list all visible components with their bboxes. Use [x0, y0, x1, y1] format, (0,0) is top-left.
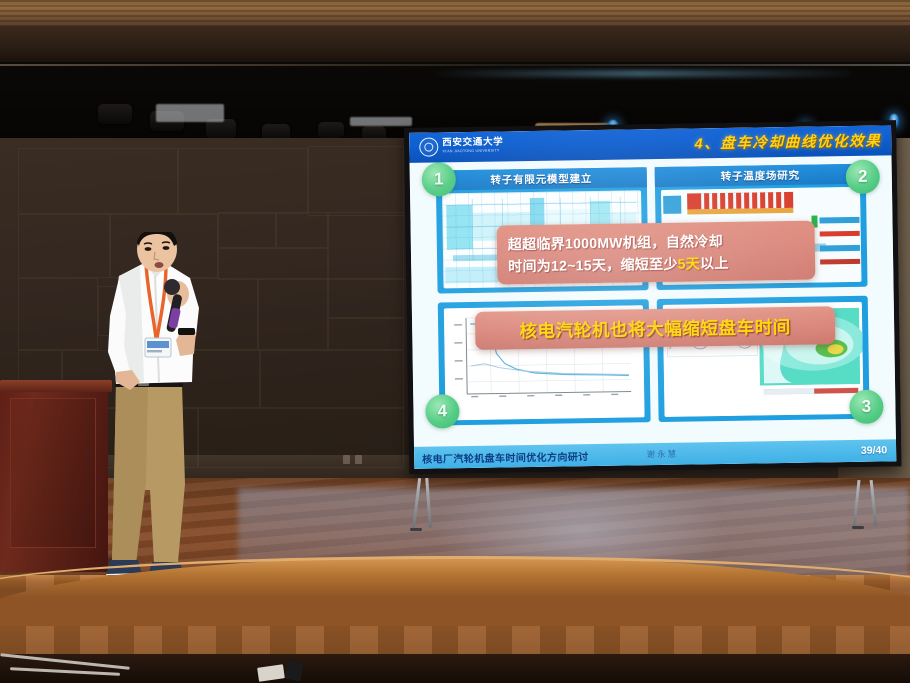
- secondary-callout-text: 核电汽轮机也将大幅缩短盘车时间: [519, 313, 791, 342]
- ceiling-light-strip: [430, 70, 850, 77]
- presenter: [86, 232, 218, 588]
- university-logo: 西安交通大学 XI'AN JIAOTONG UNIVERSITY: [419, 136, 503, 156]
- screen-tripod-foot: [410, 528, 422, 531]
- ceiling-light-glow: [350, 117, 412, 126]
- quadrant-1-header: 转子有限元模型建立: [436, 167, 647, 190]
- quadrant-1-title: 转子有限元模型建立: [490, 171, 592, 188]
- footer-title: 核电厂汽轮机盘车时间优化方向研讨: [422, 448, 589, 466]
- callout-line-2: 时间为12~15天，缩短至少5天以上: [508, 251, 804, 276]
- ceiling-wood-panel: [0, 0, 910, 28]
- quadrant-3-badge: 3: [849, 390, 884, 425]
- slide-header: 西安交通大学 XI'AN JIAOTONG UNIVERSITY 4、盘车冷却曲…: [409, 125, 891, 163]
- primary-callout-banner: 超超临界1000MW机组，自然冷却 时间为12~15天，缩短至少5天以上: [497, 221, 816, 285]
- footer-author: 谢永慧: [646, 448, 678, 460]
- ceiling-light-glow: [156, 104, 224, 122]
- ceiling-spotlight: [318, 122, 344, 138]
- quadrant-2-badge: 2: [846, 160, 881, 195]
- ceiling-edge-trim: [0, 64, 910, 66]
- floor-object-dark: [285, 661, 304, 682]
- wall-socket: [355, 455, 362, 464]
- footer-page-number: 39/40: [861, 444, 887, 456]
- callout-line-2-tail: 以上: [700, 254, 729, 270]
- slide-title: 4、盘车冷却曲线优化效果: [694, 130, 881, 154]
- ceiling-soffit: [0, 26, 910, 66]
- quadrant-2-title: 转子温度场研究: [721, 167, 800, 183]
- screen-tripod-foot: [852, 526, 864, 529]
- logo-english-name: XI'AN JIAOTONG UNIVERSITY: [442, 149, 503, 154]
- quadrant-2-header: 转子温度场研究: [655, 164, 866, 187]
- auditorium-scene: 西安交通大学 XI'AN JIAOTONG UNIVERSITY 4、盘车冷却曲…: [0, 0, 910, 683]
- wall-socket: [343, 455, 350, 464]
- secondary-callout-banner: 核电汽轮机也将大幅缩短盘车时间: [475, 306, 836, 350]
- foreground-floor: [0, 654, 910, 683]
- screen-surface: 西安交通大学 XI'AN JIAOTONG UNIVERSITY 4、盘车冷却曲…: [409, 125, 896, 469]
- callout-highlight: 5天: [678, 255, 701, 271]
- presentation-slide: 西安交通大学 XI'AN JIAOTONG UNIVERSITY 4、盘车冷却曲…: [409, 125, 896, 469]
- ceiling-spotlight: [206, 119, 236, 139]
- university-seal-icon: [419, 137, 438, 156]
- callout-line-2-text: 时间为12~15天，缩短至少: [508, 255, 678, 274]
- lectern-front-panel: [10, 398, 96, 548]
- callout-line-1: 超超临界1000MW机组，自然冷却: [508, 229, 804, 254]
- projection-screen: 西安交通大学 XI'AN JIAOTONG UNIVERSITY 4、盘车冷却曲…: [404, 120, 901, 474]
- ceiling-spotlight: [98, 104, 132, 124]
